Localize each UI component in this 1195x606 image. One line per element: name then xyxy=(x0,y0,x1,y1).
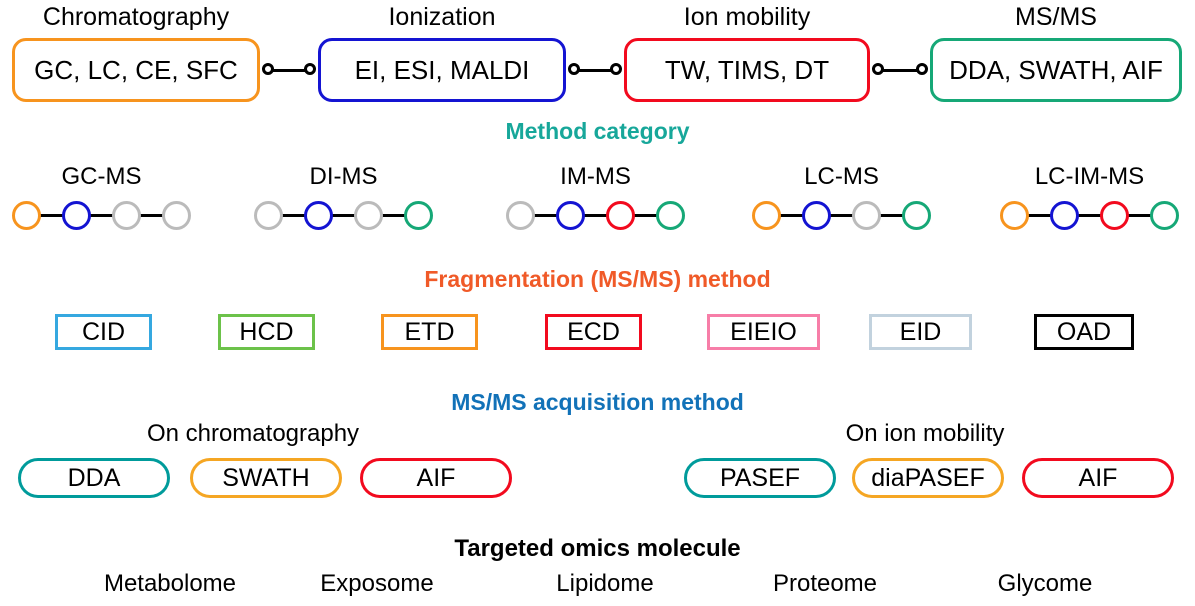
chain-label-gc-ms: GC-MS xyxy=(12,163,191,191)
omics-item-metabolome: Metabolome xyxy=(80,570,260,598)
chain-node-ion_mobility xyxy=(606,201,635,230)
chain-node-inactive xyxy=(354,201,383,230)
chain-label-im-ms: IM-MS xyxy=(506,163,685,191)
fragmentation-box-hcd[interactable]: HCD xyxy=(218,314,315,350)
chain-node-ionization xyxy=(802,201,831,230)
chain-node-inactive xyxy=(852,201,881,230)
chain-lc-ms xyxy=(752,199,931,233)
method-category-heading: Method category xyxy=(0,118,1195,145)
connector-knob-right xyxy=(304,63,316,75)
chain-node-inactive xyxy=(506,201,535,230)
chain-di-ms xyxy=(254,199,433,233)
chain-lc-im-ms xyxy=(1000,199,1179,233)
stage-label-1: Ionization xyxy=(318,2,566,32)
acquisition-group-label-0: On chromatography xyxy=(118,420,388,448)
chain-label-lc-im-ms: LC-IM-MS xyxy=(1000,163,1179,191)
chain-label-lc-ms: LC-MS xyxy=(752,163,931,191)
connector-knob-left xyxy=(262,63,274,75)
chain-node-inactive xyxy=(162,201,191,230)
chain-node-ionization xyxy=(62,201,91,230)
omics-item-glycome: Glycome xyxy=(960,570,1130,598)
fragmentation-box-cid[interactable]: CID xyxy=(55,314,152,350)
acquisition-box-swath-0[interactable]: SWATH xyxy=(190,458,342,498)
acquisition-group-label-1: On ion mobility xyxy=(810,420,1040,448)
stage-box-0[interactable]: GC, LC, CE, SFC xyxy=(12,38,260,102)
chain-node-inactive xyxy=(112,201,141,230)
diagram-canvas: ChromatographyGC, LC, CE, SFCIonizationE… xyxy=(0,0,1195,606)
pipeline-connector-1 xyxy=(568,63,622,77)
chain-node-ionization xyxy=(304,201,333,230)
acquisition-box-pasef-1[interactable]: PASEF xyxy=(684,458,836,498)
omics-item-lipidome: Lipidome xyxy=(520,570,690,598)
chain-node-msms xyxy=(1150,201,1179,230)
stage-box-3[interactable]: DDA, SWATH, AIF xyxy=(930,38,1182,102)
fragmentation-heading: Fragmentation (MS/MS) method xyxy=(0,266,1195,293)
fragmentation-box-etd[interactable]: ETD xyxy=(381,314,478,350)
connector-knob-right xyxy=(610,63,622,75)
acquisition-box-aif-1[interactable]: AIF xyxy=(1022,458,1174,498)
pipeline-connector-2 xyxy=(872,63,928,77)
pipeline-connector-0 xyxy=(262,63,316,77)
stage-label-0: Chromatography xyxy=(12,2,260,32)
acquisition-box-dda-0[interactable]: DDA xyxy=(18,458,170,498)
chain-node-ionization xyxy=(556,201,585,230)
chain-node-inactive xyxy=(254,201,283,230)
omics-item-exposome: Exposome xyxy=(292,570,462,598)
stage-label-3: MS/MS xyxy=(930,2,1182,32)
chain-node-chromatography xyxy=(12,201,41,230)
chain-node-msms xyxy=(404,201,433,230)
chain-im-ms xyxy=(506,199,685,233)
fragmentation-box-oad[interactable]: OAD xyxy=(1034,314,1134,350)
chain-node-chromatography xyxy=(752,201,781,230)
acquisition-heading: MS/MS acquisition method xyxy=(0,389,1195,416)
acquisition-box-aif-0[interactable]: AIF xyxy=(360,458,512,498)
chain-node-msms xyxy=(656,201,685,230)
fragmentation-box-eid[interactable]: EID xyxy=(869,314,972,350)
connector-knob-left xyxy=(568,63,580,75)
chain-gc-ms xyxy=(12,199,191,233)
stage-box-1[interactable]: EI, ESI, MALDI xyxy=(318,38,566,102)
stage-label-2: Ion mobility xyxy=(624,2,870,32)
fragmentation-box-ecd[interactable]: ECD xyxy=(545,314,642,350)
connector-knob-right xyxy=(916,63,928,75)
chain-node-chromatography xyxy=(1000,201,1029,230)
chain-node-ion_mobility xyxy=(1100,201,1129,230)
chain-label-di-ms: DI-MS xyxy=(254,163,433,191)
fragmentation-box-eieio[interactable]: EIEIO xyxy=(707,314,820,350)
omics-title: Targeted omics molecule xyxy=(0,535,1195,563)
omics-item-proteome: Proteome xyxy=(740,570,910,598)
connector-knob-left xyxy=(872,63,884,75)
chain-node-msms xyxy=(902,201,931,230)
acquisition-box-diapasef-1[interactable]: diaPASEF xyxy=(852,458,1004,498)
stage-box-2[interactable]: TW, TIMS, DT xyxy=(624,38,870,102)
chain-node-ionization xyxy=(1050,201,1079,230)
